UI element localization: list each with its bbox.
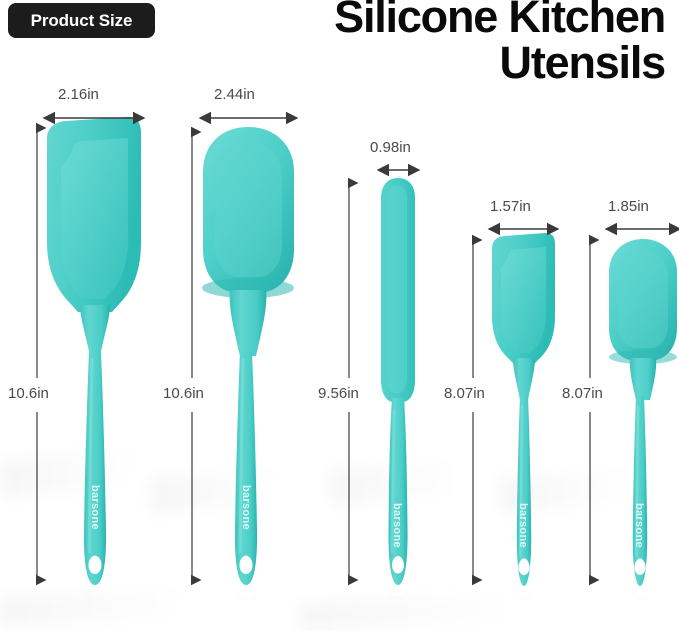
width-label-small-spatula: 1.57in — [490, 198, 531, 215]
product-size-infographic: Product Size Silicone Kitchen Utensils — [0, 0, 679, 631]
width-label-small-spoonula: 1.85in — [608, 198, 649, 215]
product-large-spatula — [37, 117, 144, 606]
product-small-spatula — [473, 229, 558, 606]
height-label-large-spatula: 10.6in — [8, 385, 49, 402]
height-label-small-spoonula: 8.07in — [562, 385, 603, 402]
width-label-large-spoonula: 2.44in — [214, 86, 255, 103]
height-label-jar-spatula: 9.56in — [318, 385, 359, 402]
width-label-jar-spatula: 0.98in — [370, 139, 411, 156]
product-small-spoonula — [590, 229, 679, 606]
height-label-large-spoonula: 10.6in — [163, 385, 204, 402]
height-label-small-spatula: 8.07in — [444, 385, 485, 402]
utensils-diagram — [0, 0, 679, 631]
product-jar-spatula — [349, 170, 419, 605]
product-large-spoonula — [192, 118, 297, 606]
width-label-large-spatula: 2.16in — [58, 86, 99, 103]
